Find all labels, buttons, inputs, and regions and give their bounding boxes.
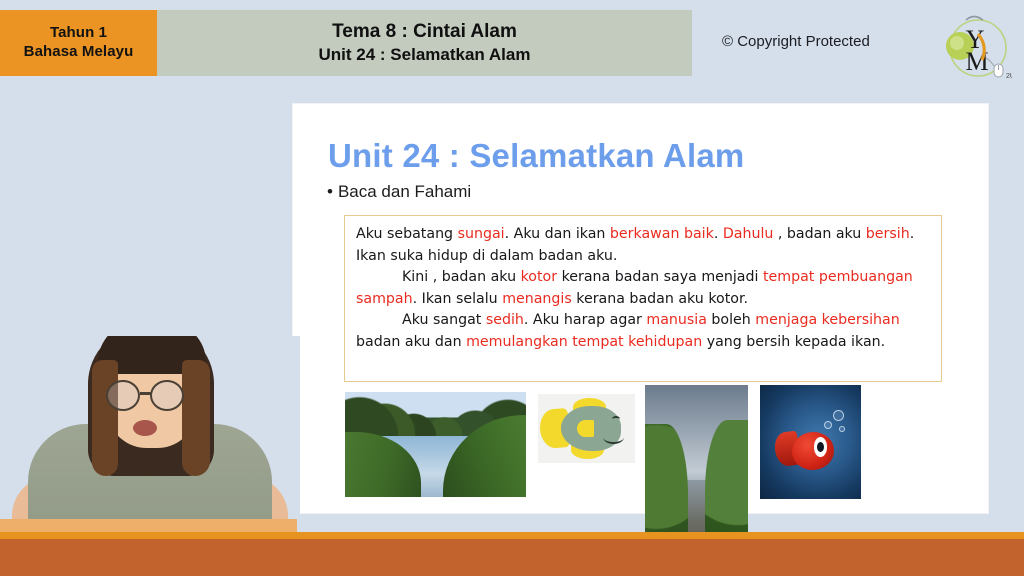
logo-badge-text: 2U: [1006, 73, 1012, 80]
footer-stripe: [0, 532, 1024, 539]
passage-run: . Ikan selalu: [413, 291, 503, 307]
passage-keyword: sedih: [486, 312, 524, 328]
passage-keyword: sungai: [458, 226, 505, 242]
passage-keyword: kotor: [521, 269, 557, 285]
passage-run: Kini , badan aku: [402, 269, 521, 285]
glasses-right-lens: [150, 380, 184, 411]
red-fish-underwater-art: [760, 385, 861, 499]
passage-run: Aku sangat: [402, 312, 486, 328]
passage-run: boleh: [707, 312, 755, 328]
passage-keyword: Dahulu: [723, 226, 774, 242]
passage-keyword: bersih: [866, 226, 910, 242]
passage-paragraph: Aku sangat sedih. Aku harap agar manusia…: [356, 310, 930, 353]
river-landscape-photo: [345, 392, 526, 497]
logo-svg: Y M 2U: [938, 8, 1012, 84]
passage-run: kerana badan saya menjadi: [557, 269, 763, 285]
passage-run: . Aku dan ikan: [505, 226, 610, 242]
bullet-marker: •: [327, 182, 333, 201]
passage-run: . Aku harap agar: [524, 312, 646, 328]
glasses-bridge: [140, 392, 151, 395]
subject-badge: Tahun 1 Bahasa Melayu: [0, 10, 157, 76]
theme-title: Tema 8 : Cintai Alam: [332, 20, 517, 45]
red-fish-pupil: [817, 442, 824, 452]
passage-run: kerana badan aku kotor.: [572, 291, 748, 307]
bubble-icon: [839, 426, 845, 432]
subject-name: Bahasa Melayu: [24, 43, 134, 62]
slide-canvas: Unit 24 : Selamatkan Alam •Baca dan Faha…: [293, 104, 988, 513]
slide-screenshot: Tahun 1 Bahasa Melayu Tema 8 : Cintai Al…: [0, 0, 1024, 576]
copyright-notice: © Copyright Protected: [722, 33, 870, 50]
unit-subtitle: Unit 24 : Selamatkan Alam: [319, 44, 531, 66]
glasses-left-lens: [106, 380, 140, 411]
passage-run: yang bersih kepada ikan.: [702, 334, 885, 350]
presenter-mouth: [133, 420, 157, 436]
passage-run: , badan aku: [773, 226, 865, 242]
subject-year: Tahun 1: [50, 24, 107, 43]
bullet-label: Baca dan Fahami: [338, 182, 471, 201]
passage-run: Aku sebatang: [356, 226, 458, 242]
passage-paragraph: Kini , badan aku kotor kerana badan saya…: [356, 267, 930, 310]
passage-run: badan aku dan: [356, 334, 466, 350]
ym2u-logo: Y M 2U: [938, 8, 1012, 84]
passage-keyword: manusia: [646, 312, 707, 328]
fish-eye: [612, 416, 621, 422]
passage-run: .: [714, 226, 723, 242]
passage-box: Aku sebatang sungai. Aku dan ikan berkaw…: [344, 215, 942, 382]
topic-bar: Tema 8 : Cintai Alam Unit 24 : Selamatka…: [157, 10, 692, 76]
passage-text: Aku sebatang sungai. Aku dan ikan berkaw…: [356, 224, 930, 353]
presenter-hair-left: [92, 360, 118, 476]
passage-paragraph: Aku sebatang sungai. Aku dan ikan berkaw…: [356, 224, 930, 267]
fish-smile: [603, 430, 624, 444]
presenter-hair-right: [182, 360, 210, 476]
slide-title: Unit 24 : Selamatkan Alam: [328, 137, 744, 175]
header-band: Tahun 1 Bahasa Melayu Tema 8 : Cintai Al…: [0, 0, 1024, 90]
passage-keyword: berkawan baik: [610, 226, 714, 242]
passage-keyword: memulangkan tempat kehidupan: [466, 334, 702, 350]
passage-keyword: menjaga kebersihan: [755, 312, 899, 328]
passage-keyword: menangis: [502, 291, 572, 307]
cartoon-fish-clipart: [538, 394, 635, 463]
footer-band: [0, 539, 1024, 576]
fish-side-fin: [577, 420, 594, 438]
slide-bullet: •Baca dan Fahami: [327, 182, 471, 202]
